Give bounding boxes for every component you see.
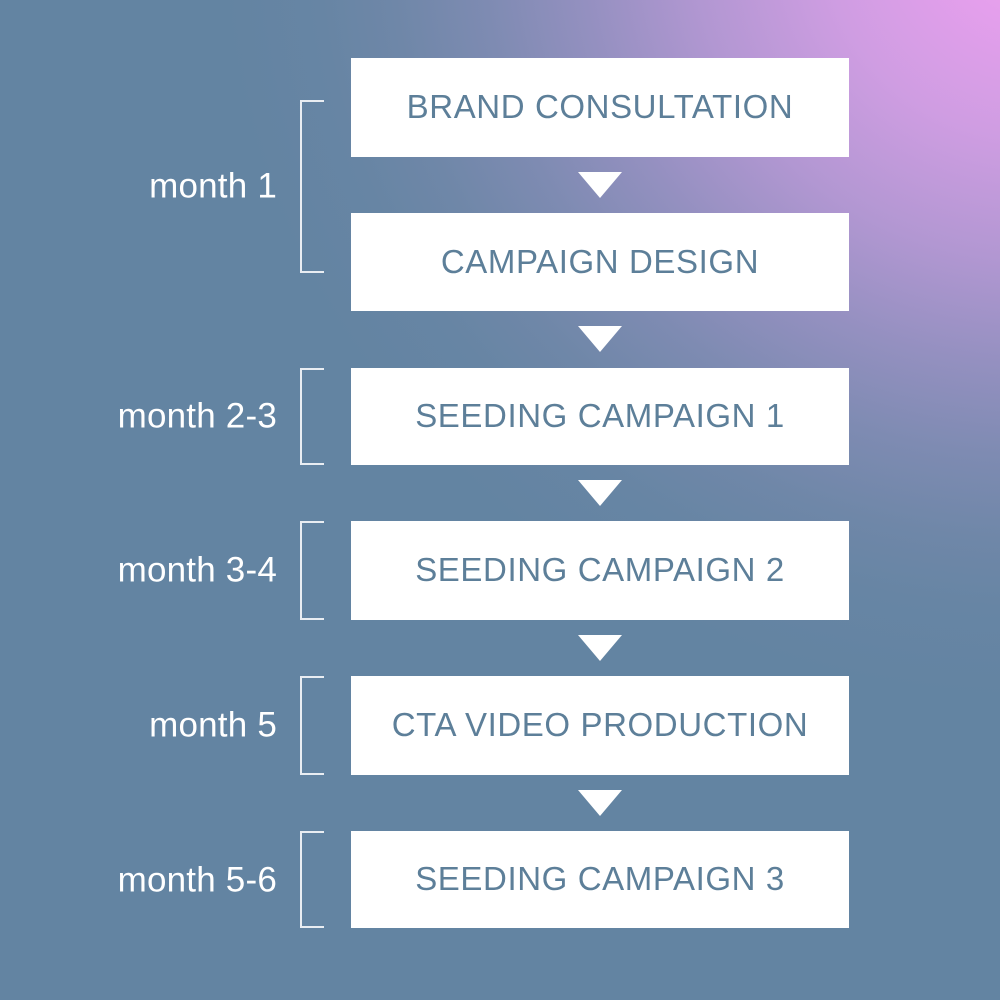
group-bracket-month-5 <box>300 676 324 775</box>
flow-arrow-down-icon <box>578 172 622 198</box>
month-label-2: month 2-3 <box>118 399 277 434</box>
month-label-3: month 3-4 <box>118 553 277 588</box>
stage-label: SEEDING CAMPAIGN 3 <box>415 861 785 897</box>
stage-label: CAMPAIGN DESIGN <box>441 244 759 280</box>
stage-box-seeding-campaign-2[interactable]: SEEDING CAMPAIGN 2 <box>351 521 849 620</box>
month-label-5: month 5-6 <box>118 863 277 898</box>
group-bracket-month-3-4 <box>300 521 324 620</box>
flow-arrow-down-icon <box>578 480 622 506</box>
stage-label: CTA VIDEO PRODUCTION <box>392 707 809 743</box>
flow-arrow-down-icon <box>578 635 622 661</box>
stage-box-brand-consultation[interactable]: BRAND CONSULTATION <box>351 58 849 157</box>
flow-arrow-down-icon <box>578 326 622 352</box>
group-bracket-month-2-3 <box>300 368 324 465</box>
stage-box-seeding-campaign-3[interactable]: SEEDING CAMPAIGN 3 <box>351 831 849 928</box>
stage-label: SEEDING CAMPAIGN 2 <box>415 552 785 588</box>
month-label-4: month 5 <box>149 708 277 743</box>
stage-label: BRAND CONSULTATION <box>407 89 794 125</box>
group-bracket-month-1 <box>300 100 324 273</box>
flow-arrow-down-icon <box>578 790 622 816</box>
group-bracket-month-5-6 <box>300 831 324 928</box>
stage-label: SEEDING CAMPAIGN 1 <box>415 398 785 434</box>
stage-box-campaign-design[interactable]: CAMPAIGN DESIGN <box>351 213 849 311</box>
month-label-1: month 1 <box>149 169 277 204</box>
stage-box-cta-video-production[interactable]: CTA VIDEO PRODUCTION <box>351 676 849 775</box>
stage-box-seeding-campaign-1[interactable]: SEEDING CAMPAIGN 1 <box>351 368 849 465</box>
timeline-canvas: month 1 month 2-3 month 3-4 month 5 mont… <box>0 0 1000 1000</box>
